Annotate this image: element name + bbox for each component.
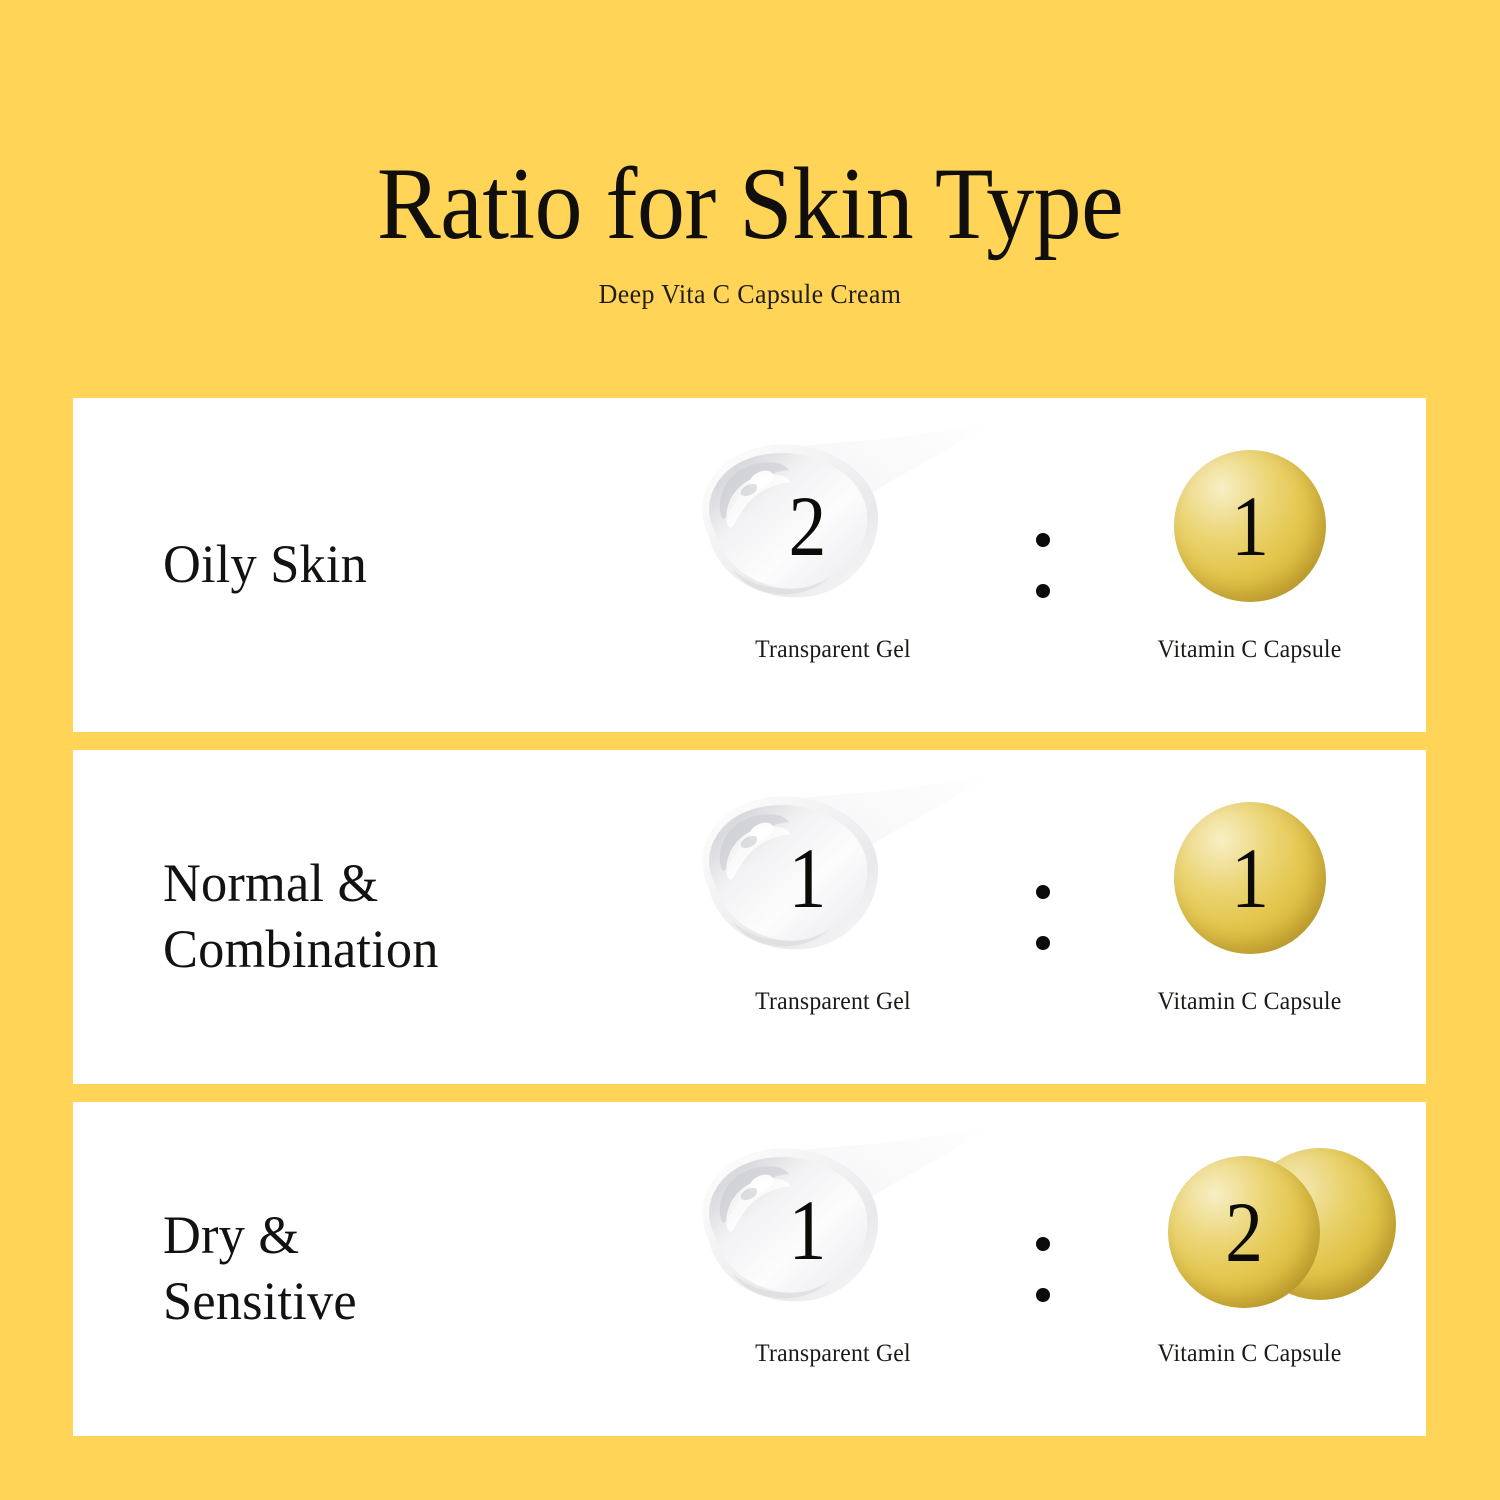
ratio-card-list: Oily Skin: [73, 398, 1426, 1436]
capsule-caption: Vitamin C Capsule: [1082, 988, 1417, 1016]
gel-column: 1 Transparent Gel: [633, 750, 1033, 1084]
colon-dot-upper-icon: [1036, 533, 1050, 547]
gel-count: 1: [653, 772, 952, 984]
capsule-art-wrap: 2: [1073, 1124, 1426, 1336]
gel-count: 2: [653, 420, 952, 632]
vitamin-c-capsule-icon: 1: [1110, 772, 1390, 984]
header: Ratio for Skin Type Deep Vita C Capsule …: [0, 0, 1500, 310]
capsule-column: 1 Vitamin C Capsule: [1073, 750, 1426, 1084]
capsule-caption: Vitamin C Capsule: [1082, 636, 1417, 664]
gel-art-wrap: 1: [633, 772, 1033, 984]
capsule-column: 2 Vitamin C Capsule: [1073, 1102, 1426, 1436]
ratio-separator: [1013, 750, 1073, 1084]
colon-dot-upper-icon: [1036, 1237, 1050, 1251]
gel-column: 1 Transparent Gel: [633, 1102, 1033, 1436]
capsule-art-wrap: 1: [1073, 772, 1426, 984]
colon-dot-lower-icon: [1036, 584, 1050, 598]
capsule-sphere-front: 2: [1168, 1156, 1320, 1308]
gel-art-wrap: 2: [633, 420, 1033, 632]
colon-dot-lower-icon: [1036, 936, 1050, 950]
gel-art-wrap: 1: [633, 1124, 1033, 1336]
colon-dot-upper-icon: [1036, 885, 1050, 899]
capsule-column: 1 Vitamin C Capsule: [1073, 398, 1426, 732]
infographic-page: Ratio for Skin Type Deep Vita C Capsule …: [0, 0, 1500, 1500]
capsule-caption: Vitamin C Capsule: [1082, 1340, 1417, 1368]
ratio-separator: [1013, 398, 1073, 732]
ratio-card-oily-skin: Oily Skin: [73, 398, 1426, 732]
skin-type-label: Oily Skin: [163, 398, 367, 732]
vitamin-c-capsule-icon: 1: [1110, 420, 1390, 632]
gel-caption: Transparent Gel: [643, 1340, 1023, 1368]
skin-type-label: Dry & Sensitive: [163, 1102, 357, 1436]
capsule-count: 1: [1183, 802, 1317, 954]
ratio-card-dry-sensitive: Dry & Sensitive: [73, 1102, 1426, 1436]
ratio-card-normal-combination: Normal & Combination: [73, 750, 1426, 1084]
capsule-art-wrap: 1: [1073, 420, 1426, 632]
capsule-count: 2: [1177, 1156, 1311, 1308]
capsule-sphere: 1: [1174, 450, 1326, 602]
ratio-separator: [1013, 1102, 1073, 1436]
gel-count: 1: [653, 1124, 952, 1336]
vitamin-c-capsule-icon: 2: [1110, 1124, 1390, 1336]
gel-caption: Transparent Gel: [643, 988, 1023, 1016]
gel-column: 2 Transparent Gel: [633, 398, 1033, 732]
page-title: Ratio for Skin Type: [53, 0, 1448, 257]
page-subtitle: Deep Vita C Capsule Cream: [30, 257, 1470, 310]
capsule-sphere: 1: [1174, 802, 1326, 954]
gel-caption: Transparent Gel: [643, 636, 1023, 664]
capsule-count: 1: [1183, 450, 1317, 602]
skin-type-label: Normal & Combination: [163, 750, 439, 1084]
colon-dot-lower-icon: [1036, 1288, 1050, 1302]
